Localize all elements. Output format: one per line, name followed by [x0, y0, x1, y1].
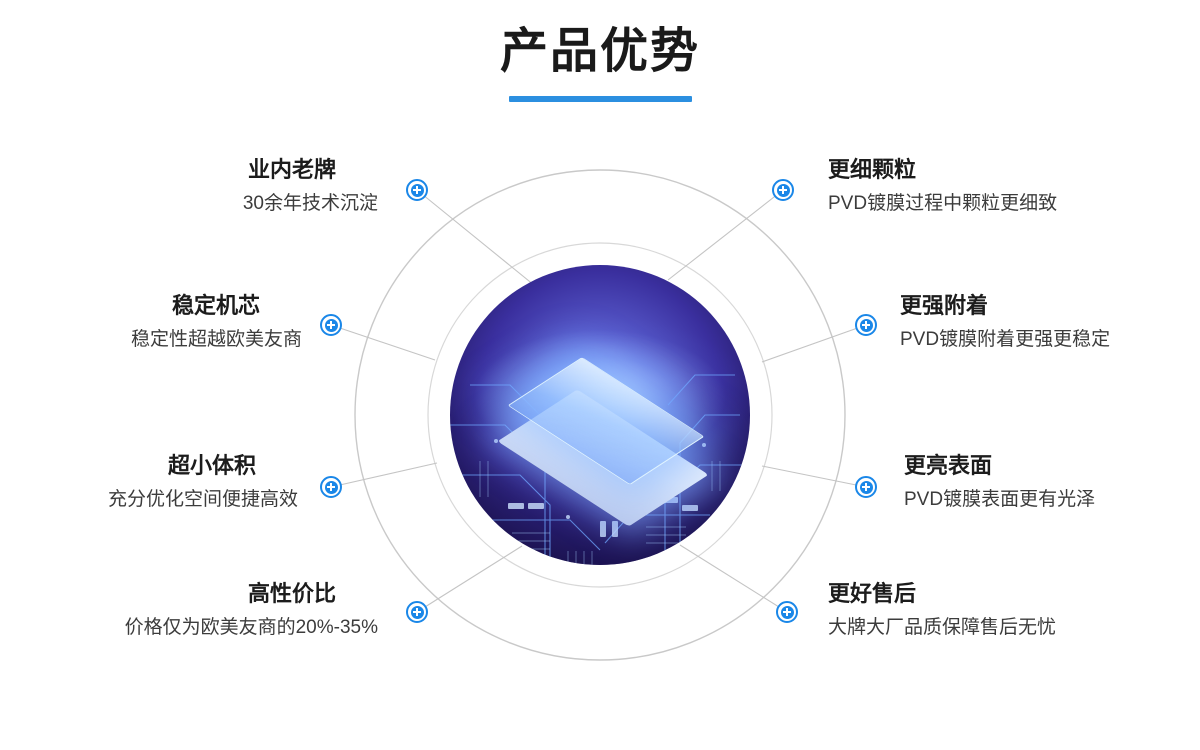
feature-desc: PVD镀膜过程中颗粒更细致: [828, 192, 1188, 217]
plus-icon: [860, 319, 873, 332]
feature-item-left-2: 稳定机芯 稳定性超越欧美友商: [0, 292, 302, 352]
feature-desc: 充分优化空间便捷高效: [0, 488, 298, 513]
feature-title: 更亮表面: [904, 452, 1200, 481]
feature-item-left-3: 超小体积 充分优化空间便捷高效: [0, 452, 298, 512]
node-plus-icon-2[interactable]: [320, 314, 342, 336]
node-plus-icon-1[interactable]: [406, 179, 428, 201]
feature-title: 更细颗粒: [828, 156, 1188, 185]
feature-title: 超小体积: [0, 452, 298, 481]
plus-icon: [411, 606, 424, 619]
feature-title: 更好售后: [828, 580, 1188, 609]
plus-icon: [781, 606, 794, 619]
plus-icon: [860, 481, 873, 494]
node-plus-icon-5[interactable]: [772, 179, 794, 201]
plus-icon: [325, 481, 338, 494]
node-plus-icon-6[interactable]: [855, 314, 877, 336]
node-plus-icon-7[interactable]: [855, 476, 877, 498]
center-chip-image: [450, 265, 750, 565]
feature-desc: 30余年技术沉淀: [18, 192, 378, 217]
plus-icon: [325, 319, 338, 332]
product-advantages-infographic: 产品优势: [0, 0, 1200, 750]
feature-item-right-1: 更细颗粒 PVD镀膜过程中颗粒更细致: [828, 156, 1188, 216]
feature-desc: 价格仅为欧美友商的20%-35%: [18, 616, 378, 641]
feature-item-left-4: 高性价比 价格仅为欧美友商的20%-35%: [18, 580, 378, 640]
feature-item-right-4: 更好售后 大牌大厂品质保障售后无忧: [828, 580, 1188, 640]
feature-item-left-1: 业内老牌 30余年技术沉淀: [18, 156, 378, 216]
feature-title: 业内老牌: [18, 156, 378, 185]
plus-icon: [777, 184, 790, 197]
feature-desc: 大牌大厂品质保障售后无忧: [828, 616, 1188, 641]
node-plus-icon-8[interactable]: [776, 601, 798, 623]
feature-item-right-3: 更亮表面 PVD镀膜表面更有光泽: [904, 452, 1200, 512]
feature-desc: 稳定性超越欧美友商: [0, 328, 302, 353]
feature-title: 高性价比: [18, 580, 378, 609]
feature-desc: PVD镀膜附着更强更稳定: [900, 328, 1200, 353]
feature-title: 更强附着: [900, 292, 1200, 321]
radial-diagram: 业内老牌 30余年技术沉淀 稳定机芯 稳定性超越欧美友商 超小体积 充分优化空间…: [0, 0, 1200, 750]
feature-desc: PVD镀膜表面更有光泽: [904, 488, 1200, 513]
plus-icon: [411, 184, 424, 197]
node-plus-icon-4[interactable]: [406, 601, 428, 623]
feature-item-right-2: 更强附着 PVD镀膜附着更强更稳定: [900, 292, 1200, 352]
node-plus-icon-3[interactable]: [320, 476, 342, 498]
feature-title: 稳定机芯: [0, 292, 302, 321]
